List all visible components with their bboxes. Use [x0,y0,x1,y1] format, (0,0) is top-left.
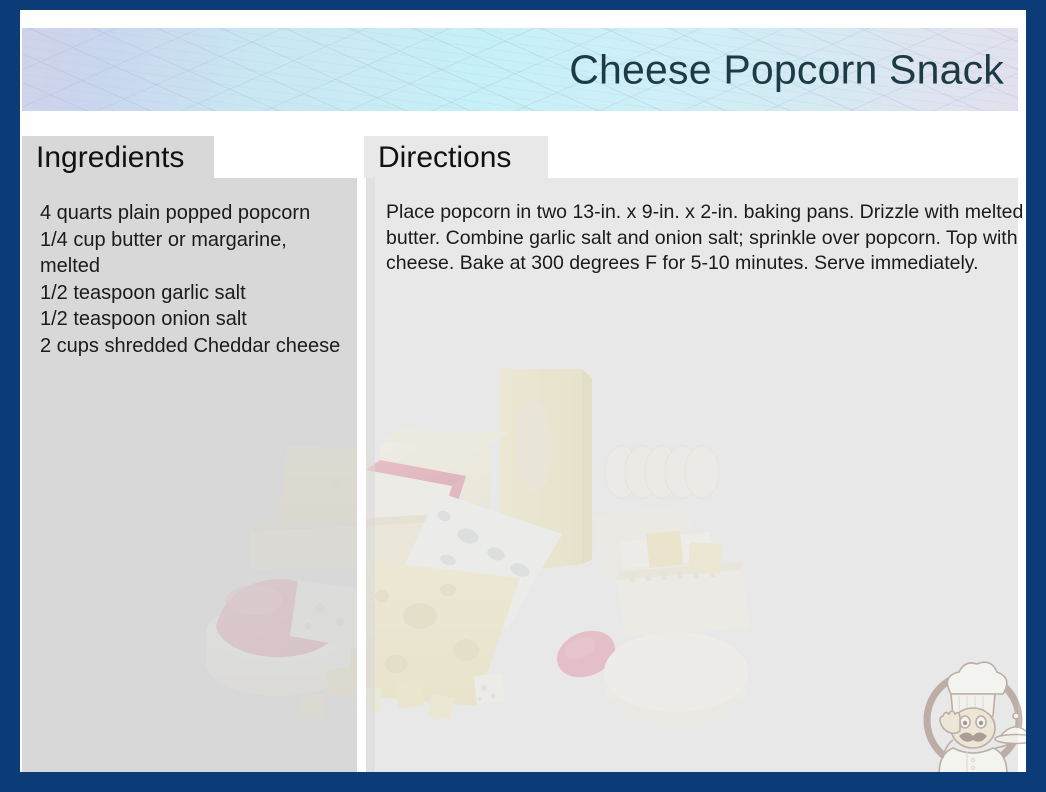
recipe-page: Cheese Popcorn Snack Ingredients Directi… [20,10,1026,772]
list-item: 2 cups shredded Cheddar cheese [40,333,370,360]
tab-directions[interactable]: Directions [364,136,548,178]
list-item: 1/2 teaspoon onion salt [40,306,370,333]
list-item: 1/2 teaspoon garlic salt [40,280,370,307]
directions-body: Place popcorn in two 13-in. x 9-in. x 2-… [386,200,1026,277]
ingredients-list: 4 quarts plain popped popcorn 1/4 cup bu… [40,200,370,359]
title-banner: Cheese Popcorn Snack [22,28,1018,111]
page-title: Cheese Popcorn Snack [569,47,1004,92]
tab-ingredients[interactable]: Ingredients [22,136,214,178]
recipe-card: Cheese Popcorn Snack Ingredients Directi… [0,0,1046,792]
list-item: 4 quarts plain popped popcorn [40,200,370,227]
list-item: melted [40,253,370,280]
list-item: 1/4 cup butter or margarine, [40,227,370,254]
